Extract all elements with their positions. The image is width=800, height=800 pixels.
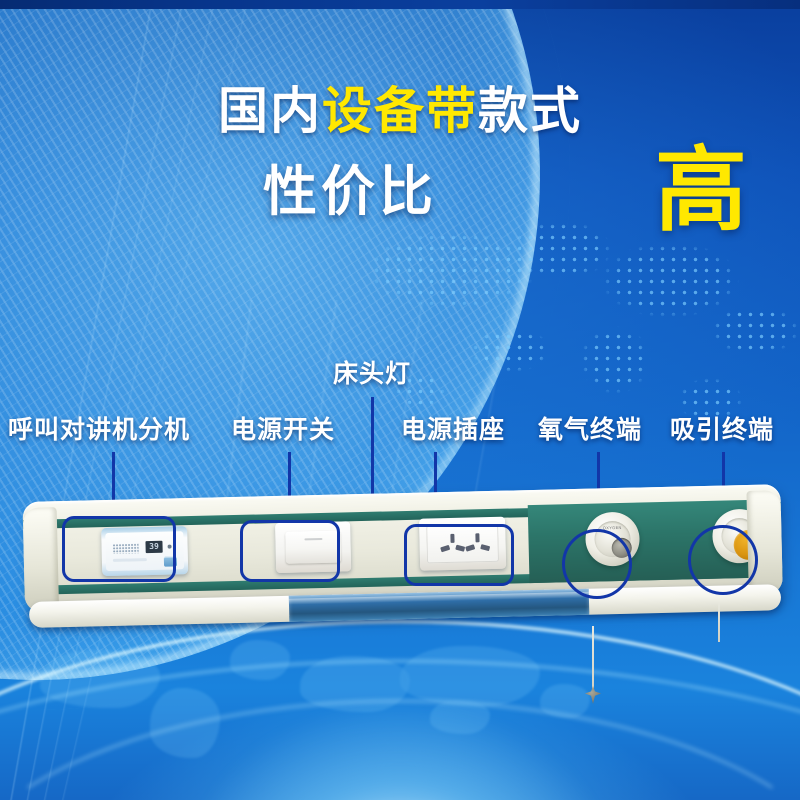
socket-faceplate [426, 524, 499, 564]
callout-label-power-switch: 电源开关 [231, 418, 335, 443]
oxygen-terminal-port[interactable] [612, 538, 632, 558]
socket-outlet-left-icon[interactable] [439, 534, 466, 557]
power-socket-unit[interactable] [419, 517, 506, 571]
indicator-led-icon [168, 545, 172, 549]
top-edge-bar [0, 0, 800, 9]
callout-label-power-socket: 电源插座 [401, 418, 505, 443]
intercom-display: 39 [145, 541, 162, 553]
big-accent-character: 高 [655, 145, 747, 237]
socket-outlet-right-icon[interactable] [464, 533, 491, 556]
suction-hanging-cord [718, 602, 720, 642]
intercom-call-button[interactable] [164, 556, 177, 566]
headline: 国内设备带款式 [0, 86, 800, 136]
promo-banner: 国内设备带款式 性价比 高 呼叫对讲机分机 电源开关 床头灯 电源插座 氧气终端… [0, 0, 800, 800]
rocker-paddle[interactable] [285, 531, 341, 564]
power-switch-unit[interactable] [275, 521, 351, 573]
callout-label-intercom: 呼叫对讲机分机 [8, 418, 190, 443]
bed-head-equipment-panel: 39 [22, 478, 785, 636]
subheadline: 性价比 [60, 165, 640, 219]
callout-label-bed-lamp: 床头灯 [333, 362, 411, 387]
callout-label-oxygen-terminal: 氧气终端 [538, 418, 642, 443]
intercom-slot [113, 558, 147, 562]
nurse-call-intercom-unit[interactable]: 39 [101, 526, 188, 576]
intercom-faceplate: 39 [105, 531, 184, 571]
speaker-grille-icon [113, 543, 139, 554]
callout-label-suction-terminal: 吸引终端 [670, 418, 774, 443]
bottom-light-burst [180, 700, 620, 800]
headline-part-1: 国内 [218, 83, 322, 139]
headline-part-3: 款式 [478, 83, 582, 139]
oxygen-terminal-inner: OXYGEN [594, 521, 631, 558]
oxygen-terminal-label: OXYGEN [603, 525, 622, 530]
panel-end-cap-left [23, 507, 60, 612]
headline-part-2: 设备带 [322, 83, 478, 139]
